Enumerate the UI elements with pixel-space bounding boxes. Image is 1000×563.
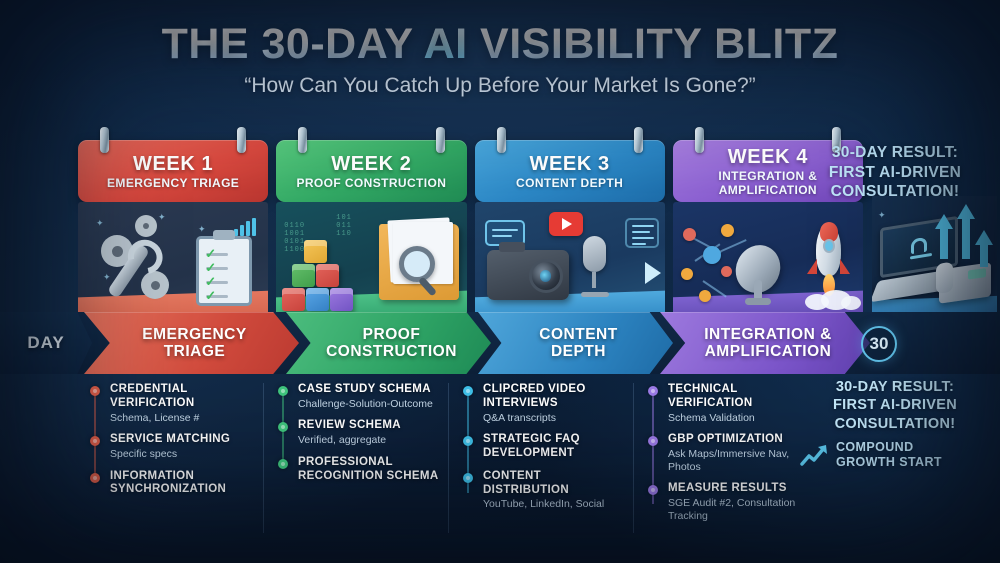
list-item-title: MEASURE RESULTS: [668, 482, 818, 496]
page-title-part1: THE 30-DAY: [162, 20, 424, 68]
week-card-3[interactable]: WEEK 3 CONTENT DEPTH: [475, 140, 665, 202]
growth-arrow-icon: [957, 204, 975, 219]
microphone-stand-icon: [581, 292, 609, 297]
timeline-stage-3[interactable]: CONTENTDEPTH: [478, 312, 673, 374]
rocket-icon: [816, 224, 841, 276]
deliverables-column-4: TECHNICALVERIFICATION Schema Validation …: [633, 383, 818, 533]
bell-icon: [911, 237, 927, 255]
transcript-lines-icon: [625, 218, 659, 248]
timeline-stage-label: CONTENTDEPTH: [533, 326, 617, 360]
day-30-badge: 30: [861, 326, 897, 362]
bullet-dot-icon: [90, 436, 100, 446]
network-node: [683, 228, 696, 241]
pin-icon: [497, 127, 506, 153]
magnifier-icon: [399, 246, 435, 282]
youtube-play-icon: [549, 212, 583, 236]
list-item[interactable]: REVIEW SCHEMA Verified, aggregate: [278, 419, 448, 446]
day-label: DAY: [27, 333, 64, 353]
week-card-1[interactable]: WEEK 1 EMERGENCY TRIAGE: [78, 140, 268, 202]
timeline-stage-1[interactable]: EMERGENCYTRIAGE: [84, 312, 299, 374]
bullet-dot-icon: [278, 459, 288, 469]
bullet-dot-icon: [278, 386, 288, 396]
rocket-window: [823, 239, 835, 253]
page-title-ai: AI: [424, 20, 468, 68]
list-item[interactable]: TECHNICALVERIFICATION Schema Validation: [648, 383, 818, 424]
satellite-base: [745, 298, 771, 305]
growth-arrow-icon: [935, 214, 953, 229]
exhaust-cloud: [805, 294, 829, 310]
network-node: [681, 268, 693, 280]
growth-arrow-icon: [975, 230, 993, 245]
pin-icon: [237, 127, 246, 153]
sparkle-icon: ✦: [878, 210, 886, 221]
bullet-dot-icon: [648, 436, 658, 446]
gear-icon: [106, 240, 128, 262]
compound-growth-block: COMPOUNDGROWTH START: [800, 440, 995, 470]
illustration-row: ✦ ✦ ✦ ✦ 0110100101011100: [78, 202, 863, 320]
week-card-label: WEEK 1: [133, 154, 213, 175]
list-item-desc: Schema, License #: [110, 412, 263, 425]
result-heading-bottom: 30-DAY RESULT:FIRST AI-DRIVENCONSULTATIO…: [795, 378, 995, 433]
timeline-stage-label: PROOFCONSTRUCTION: [320, 326, 457, 360]
list-item-title: CONTENTDISTRIBUTION: [483, 470, 633, 498]
camera-microphone-video-illustration: [475, 202, 665, 320]
phone-handset: [936, 262, 953, 294]
pin-icon: [634, 127, 643, 153]
day-30-badge-label: 30: [870, 334, 889, 354]
result-heading-top: 30-DAY RESULT:FIRST AI-DRIVENCONSULTATIO…: [795, 143, 995, 202]
sparkle-icon: ✦: [96, 218, 104, 229]
pin-icon: [298, 127, 307, 153]
list-item-title: CREDENTIALVERIFICATION: [110, 383, 263, 411]
pin-icon: [436, 127, 445, 153]
phone-display: [968, 268, 986, 280]
deliverables-column-3: CLIPCRED VIDEOINTERVIEWS Q&A transcripts…: [448, 383, 633, 533]
compound-growth-label: COMPOUNDGROWTH START: [836, 440, 942, 470]
bullet-dot-icon: [463, 436, 473, 446]
bullet-dot-icon: [90, 386, 100, 396]
list-item-desc: Ask Maps/Immersive Nav, Photos: [668, 448, 818, 473]
timeline-stage-label: INTEGRATION &AMPLIFICATION: [698, 326, 832, 360]
page-title: THE 30-DAY AI VISIBILITY BLITZ: [0, 22, 1000, 67]
cube-icon: [330, 288, 353, 311]
timeline-stage-4[interactable]: INTEGRATION &AMPLIFICATION: [660, 312, 870, 374]
cube-icon: [292, 264, 315, 287]
network-node: [703, 246, 721, 264]
list-item-desc: SGE Audit #2, Consultation Tracking: [668, 497, 818, 522]
sparkle-icon: ✦: [158, 212, 166, 223]
sparkle-icon: ✦: [103, 272, 111, 283]
list-item[interactable]: MEASURE RESULTS SGE Audit #2, Consultati…: [648, 482, 818, 522]
blocks-folder-magnifier-illustration: 0110100101011100 101011110: [276, 202, 466, 320]
bullet-dot-icon: [90, 473, 100, 483]
bullet-dot-icon: [463, 473, 473, 483]
page-title-block: THE 30-DAY AI VISIBILITY BLITZ “How Can …: [0, 22, 1000, 98]
network-satellite-rocket-illustration: [673, 202, 863, 320]
laptop-phone-growth-illustration: ✦: [872, 196, 997, 324]
network-node: [721, 266, 732, 277]
camera-icon: [487, 250, 569, 300]
gears-wrench-clipboard-illustration: ✦ ✦ ✦ ✦: [78, 202, 268, 320]
day-label-block: DAY: [0, 312, 92, 374]
list-item-title: INFORMATIONSYNCHRONIZATION: [110, 470, 263, 498]
bullet-dot-icon: [648, 485, 658, 495]
list-item[interactable]: PROFESSIONALRECOGNITION SCHEMA: [278, 456, 448, 484]
pin-icon: [100, 127, 109, 153]
bullet-dot-icon: [463, 386, 473, 396]
bullet-dot-icon: [278, 422, 288, 432]
list-item-title: CASE STUDY SCHEMA: [298, 383, 448, 397]
trend-arrow-icon: [800, 443, 830, 467]
week-header-row: WEEK 1 EMERGENCY TRIAGE WEEK 2 PROOF CON…: [78, 140, 863, 202]
exhaust-cloud: [841, 296, 861, 310]
list-item-title: REVIEW SCHEMA: [298, 419, 448, 433]
binary-code-decoration: 0110100101011100: [284, 222, 305, 254]
list-item-title: CLIPCRED VIDEOINTERVIEWS: [483, 383, 633, 411]
cube-icon: [282, 288, 305, 311]
list-item[interactable]: SERVICE MATCHING Specific specs: [90, 433, 263, 460]
list-item-desc: Specific specs: [110, 448, 263, 461]
cube-icon: [304, 240, 327, 263]
list-item-desc: YouTube, LinkedIn, Social: [483, 498, 633, 511]
camera-lens-icon: [529, 259, 563, 293]
cube-icon: [316, 264, 339, 287]
list-item-desc: Q&A transcripts: [483, 412, 633, 425]
list-item[interactable]: CREDENTIALVERIFICATION Schema, License #: [90, 383, 263, 424]
page-subtitle: “How Can You Catch Up Before Your Market…: [0, 74, 1000, 98]
list-item-title: PROFESSIONALRECOGNITION SCHEMA: [298, 456, 448, 484]
list-item-desc: Challenge-Solution-Outcome: [298, 398, 448, 411]
list-item[interactable]: CLIPCRED VIDEOINTERVIEWS Q&A transcripts: [463, 383, 633, 424]
week-card-label: WEEK 3: [529, 154, 609, 175]
week-card-subtitle: CONTENT DEPTH: [516, 177, 623, 190]
forward-arrow-icon: [645, 262, 661, 284]
list-item[interactable]: GBP OPTIMIZATION Ask Maps/Immersive Nav,…: [648, 433, 818, 473]
gear-icon: [146, 276, 164, 294]
list-item[interactable]: CONTENTDISTRIBUTION YouTube, LinkedIn, S…: [463, 470, 633, 511]
list-item-title: SERVICE MATCHING: [110, 433, 263, 447]
page-title-part2: VISIBILITY BLITZ: [468, 20, 839, 68]
week-card-label: WEEK 2: [331, 154, 411, 175]
week-card-subtitle: PROOF CONSTRUCTION: [296, 177, 446, 190]
pin-icon: [695, 127, 704, 153]
sparkle-icon: ✦: [198, 224, 206, 235]
network-node: [699, 290, 711, 302]
timeline-stage-label: EMERGENCYTRIAGE: [136, 326, 246, 360]
gear-icon: [140, 220, 152, 232]
deliverables-column-1: CREDENTIALVERIFICATION Schema, License #…: [78, 383, 263, 533]
list-item-desc: Verified, aggregate: [298, 434, 448, 447]
list-item-title: STRATEGIC FAQDEVELOPMENT: [483, 433, 633, 461]
deliverables-columns: CREDENTIALVERIFICATION Schema, License #…: [78, 383, 863, 533]
microphone-icon: [583, 236, 606, 272]
network-node: [721, 224, 734, 237]
list-item[interactable]: INFORMATIONSYNCHRONIZATION: [90, 470, 263, 498]
rocket-fin: [807, 259, 817, 274]
binary-code-decoration: 101011110: [336, 214, 352, 238]
list-item[interactable]: CASE STUDY SCHEMA Challenge-Solution-Out…: [278, 383, 448, 410]
infographic-canvas: THE 30-DAY AI VISIBILITY BLITZ “How Can …: [0, 0, 1000, 563]
timeline-stage-2[interactable]: PROOFCONSTRUCTION: [286, 312, 491, 374]
deliverables-column-2: CASE STUDY SCHEMA Challenge-Solution-Out…: [263, 383, 448, 533]
clipboard-icon: [196, 236, 252, 306]
cube-icon: [306, 288, 329, 311]
list-item-title: GBP OPTIMIZATION: [668, 433, 818, 447]
rocket-fin: [840, 259, 850, 274]
week-card-subtitle: EMERGENCY TRIAGE: [107, 177, 239, 190]
week-card-2[interactable]: WEEK 2 PROOF CONSTRUCTION: [276, 140, 466, 202]
list-item[interactable]: STRATEGIC FAQDEVELOPMENT: [463, 433, 633, 461]
bullet-dot-icon: [648, 386, 658, 396]
bar-chart-icon: [234, 218, 256, 236]
